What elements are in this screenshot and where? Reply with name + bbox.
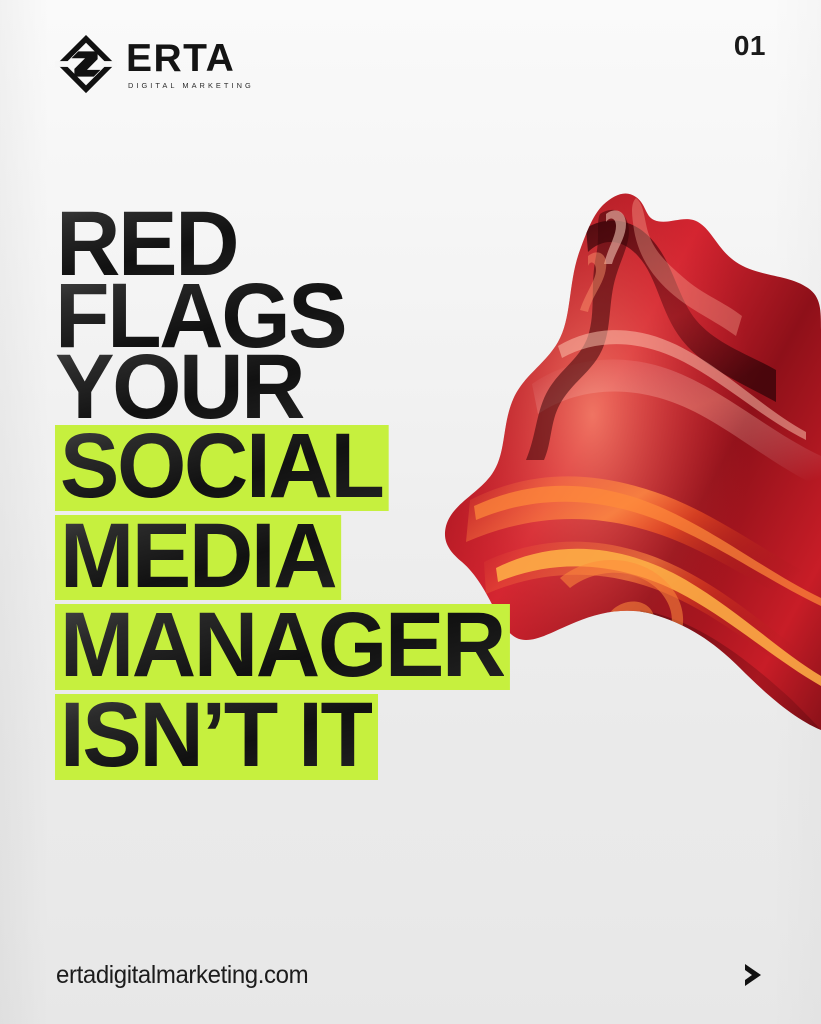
headline-line-7: ISN’T IT bbox=[55, 694, 775, 780]
headline-line-4: SOCIAL bbox=[55, 425, 775, 511]
brand-wordmark: ERTA DIGITAL MARKETING bbox=[126, 38, 254, 91]
poster-canvas: ERTA DIGITAL MARKETING 01 bbox=[0, 0, 821, 1024]
brand-tagline: DIGITAL MARKETING bbox=[128, 81, 254, 90]
poster-footer: ertadigitalmarketing.com bbox=[0, 914, 821, 1024]
erta-diamond-monogram-icon bbox=[55, 33, 117, 95]
brand-name: ERTA bbox=[126, 41, 254, 77]
highlight-band-manager: MANAGER bbox=[55, 604, 510, 690]
headline-block: RED FLAGS YOUR SOCIAL MEDIA MANAGER ISN’… bbox=[55, 206, 775, 784]
headline-line-6: MANAGER bbox=[55, 604, 775, 690]
highlight-band-social: SOCIAL bbox=[55, 425, 388, 511]
highlight-band-media: MEDIA bbox=[55, 515, 341, 601]
headline-line-5: MEDIA bbox=[55, 515, 775, 601]
page-number: 01 bbox=[734, 30, 766, 62]
brand-logo[interactable]: ERTA DIGITAL MARKETING bbox=[55, 33, 254, 95]
website-url[interactable]: ertadigitalmarketing.com bbox=[56, 961, 308, 990]
poster-header: ERTA DIGITAL MARKETING 01 bbox=[0, 0, 821, 120]
highlight-band-isnt-it: ISN’T IT bbox=[55, 694, 378, 780]
chevron-right-icon[interactable] bbox=[737, 958, 771, 992]
